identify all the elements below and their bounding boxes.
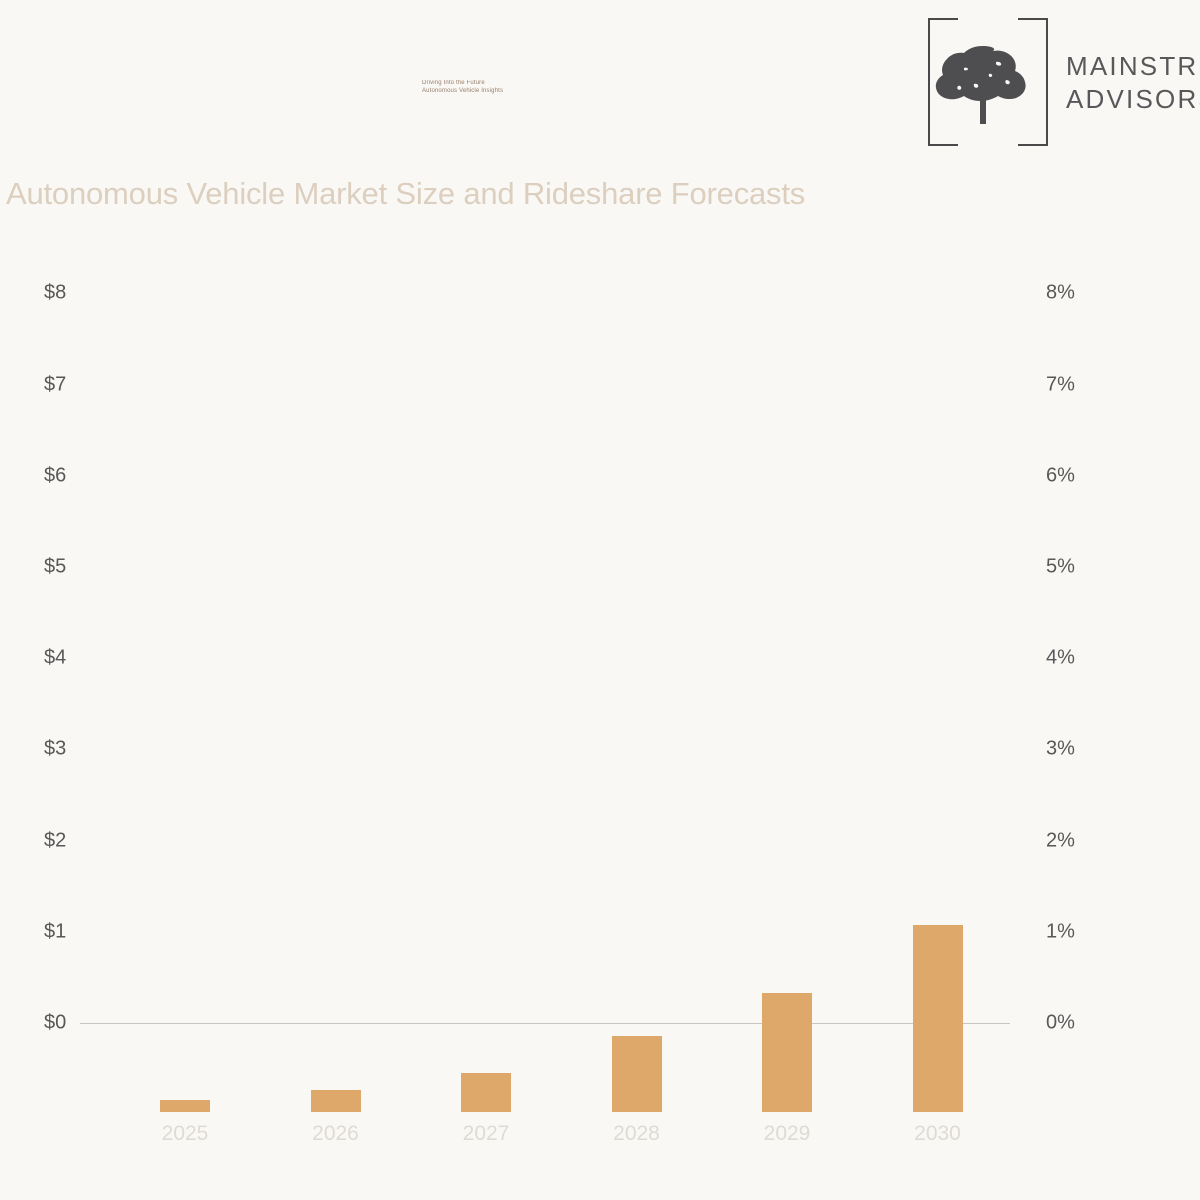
bar-2028[interactable] xyxy=(612,1036,662,1112)
right-axis-tick-3: 3% xyxy=(1046,738,1075,761)
x-axis-tick-2026: 2026 xyxy=(312,1122,359,1146)
right-axis-tick-8: 8% xyxy=(1046,282,1075,305)
right-axis-tick-7: 7% xyxy=(1046,373,1075,396)
x-axis-tick-2025: 2025 xyxy=(162,1122,209,1146)
x-axis-tick-2029: 2029 xyxy=(764,1122,811,1146)
bar-2030[interactable] xyxy=(913,925,963,1112)
bar-2029[interactable] xyxy=(762,993,812,1112)
x-axis-tick-2030: 2030 xyxy=(914,1122,961,1146)
right-axis-tick-2: 2% xyxy=(1046,829,1075,852)
right-axis-tick-5: 5% xyxy=(1046,556,1075,579)
left-axis-tick-8: $8 xyxy=(44,282,66,305)
bar-2025[interactable] xyxy=(160,1100,210,1112)
bar-2027[interactable] xyxy=(461,1073,511,1112)
left-axis-tick-6: $6 xyxy=(44,464,66,487)
zero-gridline xyxy=(80,1023,1010,1024)
left-axis-tick-3: $3 xyxy=(44,738,66,761)
left-axis-tick-1: $1 xyxy=(44,920,66,943)
right-axis-tick-0: 0% xyxy=(1046,1012,1075,1035)
right-axis-tick-4: 4% xyxy=(1046,647,1075,670)
left-axis-tick-0: $0 xyxy=(44,1012,66,1035)
left-axis-tick-4: $4 xyxy=(44,647,66,670)
left-axis-tick-5: $5 xyxy=(44,556,66,579)
right-axis-tick-6: 6% xyxy=(1046,464,1075,487)
bar-chart: $0$1$2$3$4$5$6$7$8 0%1%2%3%4%5%6%7%8% 20… xyxy=(0,0,1200,1200)
left-axis-tick-2: $2 xyxy=(44,829,66,852)
x-axis-tick-2027: 2027 xyxy=(463,1122,510,1146)
left-axis-tick-7: $7 xyxy=(44,373,66,396)
bar-2026[interactable] xyxy=(311,1090,361,1112)
x-axis-tick-2028: 2028 xyxy=(613,1122,660,1146)
right-axis-tick-1: 1% xyxy=(1046,920,1075,943)
